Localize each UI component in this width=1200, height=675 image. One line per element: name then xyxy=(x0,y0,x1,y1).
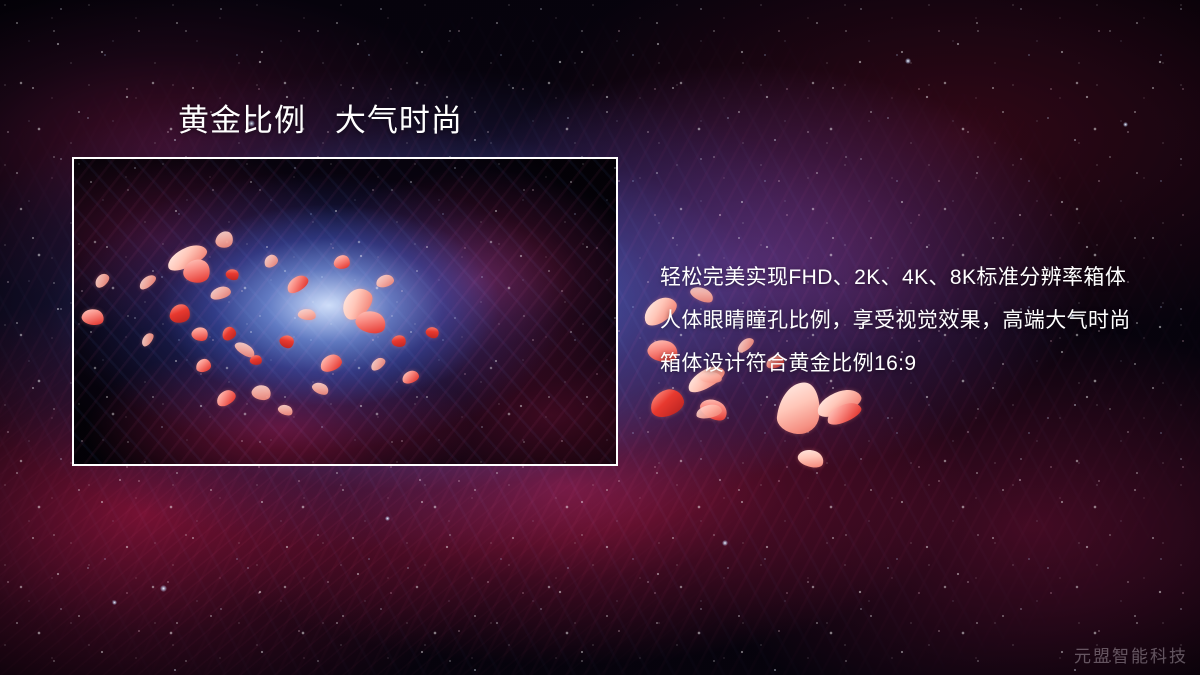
body-line: 箱体设计符合黄金比例16:9 xyxy=(660,342,1180,385)
image-frame-panel[interactable] xyxy=(72,157,618,466)
body-line: 轻松完美实现FHD、2K、4K、8K标准分辨率箱体 xyxy=(660,256,1180,299)
body-text-block: 轻松完美实现FHD、2K、4K、8K标准分辨率箱体 人体眼睛瞳孔比例，享受视觉效… xyxy=(660,256,1180,385)
watermark: 元盟智能科技 xyxy=(1074,642,1188,667)
page-title: 黄金比例 大气时尚 xyxy=(178,102,463,140)
body-line: 人体眼睛瞳孔比例，享受视觉效果，高端大气时尚 xyxy=(660,299,1180,342)
image-frame-content xyxy=(74,159,616,464)
slide-canvas: 黄金比例 大气时尚 轻松完美实现FHD、2K、4K、8K标准分辨率箱体 人体眼睛… xyxy=(0,0,1200,675)
framed-starfield-3 xyxy=(74,159,616,464)
